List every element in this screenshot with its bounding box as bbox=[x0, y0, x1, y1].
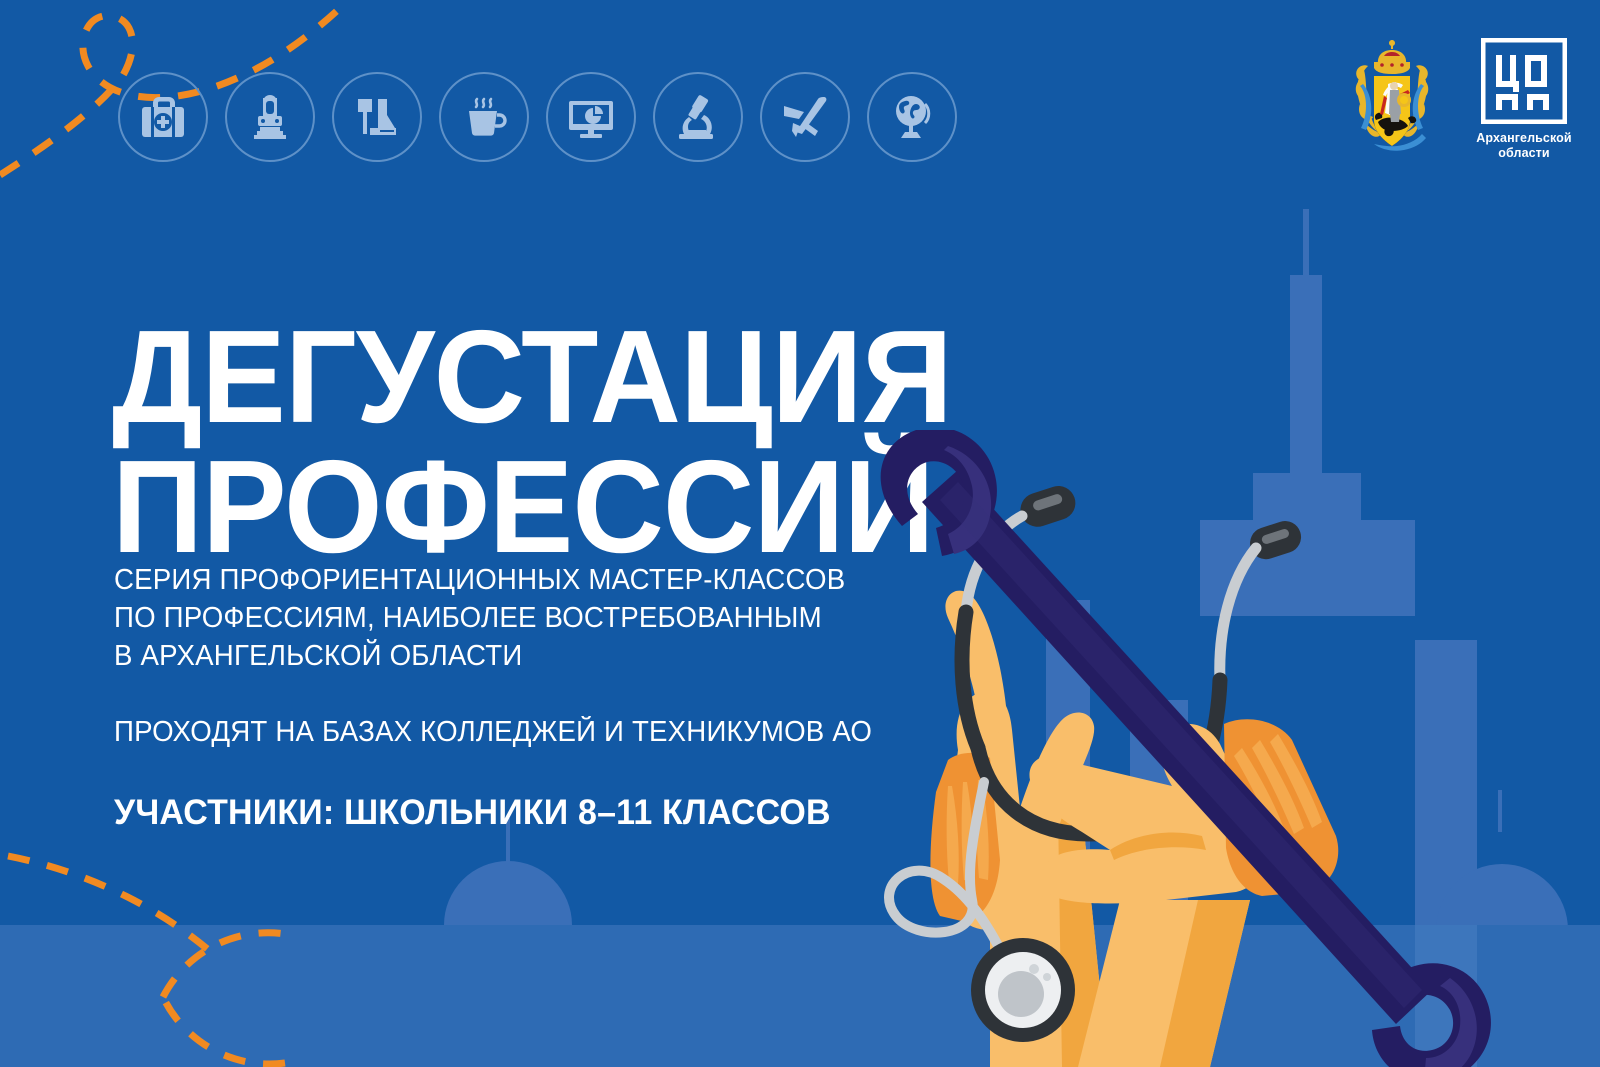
description-p1-line-1: СЕРИЯ ПРОФОРИЕНТАЦИОННЫХ МАСТЕР-КЛАССОВ bbox=[114, 561, 872, 599]
microscope-icon bbox=[653, 72, 743, 162]
medical-bag-icon bbox=[118, 72, 208, 162]
page-title-line-2: ПРОФЕССИЙ bbox=[112, 442, 952, 571]
profession-icon-strip bbox=[118, 72, 957, 162]
welding-tools-icon bbox=[332, 72, 422, 162]
copp-subtitle-line1: Архангельской bbox=[1476, 131, 1571, 146]
description-p1-line-3: В АРХАНГЕЛЬСКОЙ ОБЛАСТИ bbox=[114, 637, 872, 675]
monitor-chart-icon bbox=[546, 72, 636, 162]
globe-icon bbox=[867, 72, 957, 162]
airplane-icon bbox=[760, 72, 850, 162]
surveying-instrument-icon bbox=[225, 72, 315, 162]
page-title-line-1: ДЕГУСТАЦИЯ bbox=[112, 312, 952, 441]
coffee-cup-icon bbox=[439, 72, 529, 162]
description-p2-line-1: ПРОХОДЯТ НА БАЗАХ КОЛЛЕДЖЕЙ И ТЕХНИКУМОВ… bbox=[114, 713, 872, 751]
copp-mark-icon bbox=[1481, 38, 1567, 124]
description-p1-line-2: ПО ПРОФЕССИЯМ, НАИБОЛЕЕ ВОСТРЕБОВАННЫМ bbox=[114, 599, 872, 637]
arkhangelsk-coat-of-arms bbox=[1344, 38, 1440, 166]
poster-root: Архангельской области ДЕГУСТАЦИЯ ПРОФЕСС… bbox=[0, 0, 1600, 1067]
copp-logo: Архангельской области bbox=[1476, 38, 1572, 162]
description-paragraph-1: СЕРИЯ ПРОФОРИЕНТАЦИОННЫХ МАСТЕР-КЛАССОВ … bbox=[114, 561, 872, 675]
copp-subtitle-line2: области bbox=[1476, 146, 1571, 161]
logo-row: Архангельской области bbox=[1344, 38, 1572, 166]
description-paragraph-2: ПРОХОДЯТ НА БАЗАХ КОЛЛЕДЖЕЙ И ТЕХНИКУМОВ… bbox=[114, 713, 872, 751]
participants-highlight: УЧАСТНИКИ: ШКОЛЬНИКИ 8–11 КЛАССОВ bbox=[114, 793, 872, 833]
copp-subtitle: Архангельской области bbox=[1476, 131, 1571, 162]
background-lower-band bbox=[0, 925, 1600, 1067]
body-copy: СЕРИЯ ПРОФОРИЕНТАЦИОННЫХ МАСТЕР-КЛАССОВ … bbox=[114, 561, 895, 833]
page-title: ДЕГУСТАЦИЯ ПРОФЕССИЙ bbox=[112, 312, 952, 571]
